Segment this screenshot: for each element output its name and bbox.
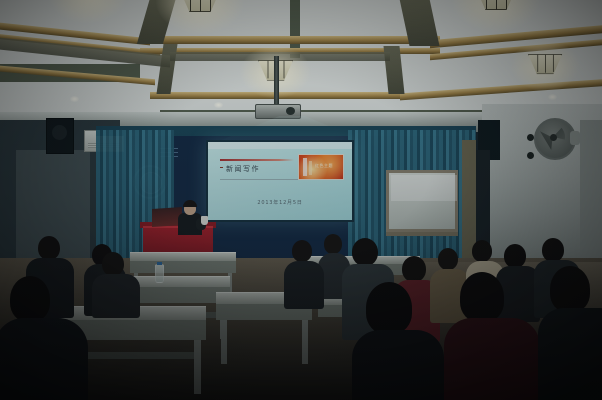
slide-decorative-image: 红色主题 xyxy=(298,154,344,180)
door-frame xyxy=(462,140,476,260)
slide-date: 2013年12月5日 xyxy=(208,199,352,206)
projector-lens xyxy=(286,107,295,115)
lecture-hall-photo: 新闻写作 红色主题 2013年12月5日 xyxy=(0,0,602,400)
ceiling-gold-trim xyxy=(140,36,440,44)
slide-rule-top xyxy=(220,159,294,161)
slide-top-band xyxy=(208,142,352,149)
projection-screen: 新闻写作 红色主题 2013年12月5日 xyxy=(208,142,352,220)
wall-fan xyxy=(534,118,574,158)
downlight xyxy=(548,94,557,100)
projector-mount xyxy=(274,56,279,108)
downlight xyxy=(214,102,223,108)
slide-image-caption: 红色主题 xyxy=(315,163,333,169)
slide-rule-bottom xyxy=(220,179,306,180)
water-bottle xyxy=(155,264,164,283)
fan-switch[interactable] xyxy=(527,134,534,141)
paper-cup xyxy=(201,216,208,225)
fan-switch[interactable] xyxy=(527,152,534,159)
whiteboard-tray xyxy=(386,232,458,236)
slide-title: 新闻写作 xyxy=(226,164,260,174)
slide-bullet xyxy=(220,167,223,168)
whiteboard xyxy=(386,170,458,232)
wall-speaker xyxy=(46,118,74,154)
presenter-hair xyxy=(183,200,197,207)
downlight xyxy=(70,96,79,102)
ceiling-panel xyxy=(0,82,160,116)
